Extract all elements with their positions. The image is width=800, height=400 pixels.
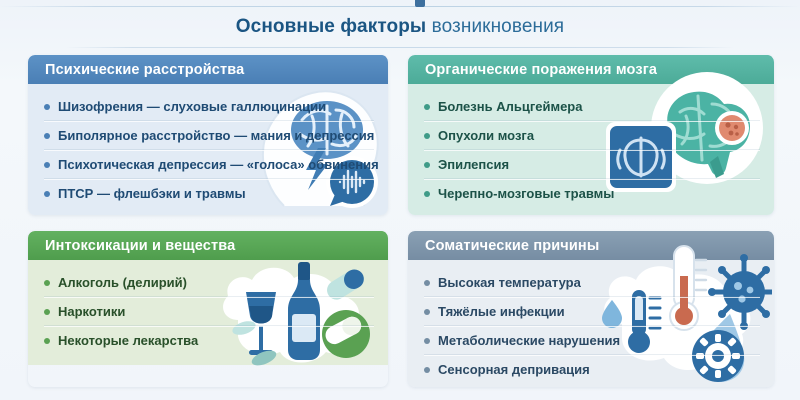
top-divider [0, 6, 800, 7]
list-item-label: Метаболические нарушения [438, 334, 620, 348]
page-title: Основные факторы возникновения [0, 16, 800, 38]
list-item-label: Шизофрения — слуховые галлюцинации [58, 100, 326, 114]
card-mental-disorders-title: Психические расстройства [45, 62, 244, 78]
card-intoxication-substances: Интоксикации и вещества [28, 231, 388, 387]
card-somatic-causes: Соматические причины [408, 231, 774, 387]
list-item: Тяжёлые инфекции [424, 297, 760, 326]
card-mental-disorders-body: Шизофрения — слуховые галлюцинации Бипол… [28, 84, 388, 215]
bullet-icon [424, 133, 430, 139]
title-underline [66, 47, 734, 48]
top-marker [415, 0, 425, 7]
bullet-icon [44, 191, 50, 197]
list-item: Эпилепсия [424, 150, 760, 179]
card-somatic-causes-title: Соматические причины [425, 238, 599, 254]
list-item-label: Алкоголь (делирий) [58, 276, 187, 290]
list-item: Опухоли мозга [424, 121, 760, 150]
list-item: Черепно-мозговые травмы [424, 179, 760, 208]
bullet-icon [44, 104, 50, 110]
card-intoxication-substances-list: Алкоголь (делирий) Наркотики Некоторые л… [44, 269, 374, 355]
list-item: Психотическая депрессия — «голоса» обвин… [44, 150, 374, 179]
card-somatic-causes-list: Высокая температура Тяжёлые инфекции Мет… [424, 269, 760, 384]
bullet-icon [424, 280, 430, 286]
bullet-icon [44, 133, 50, 139]
card-organic-brain-damage: Органические поражения мозга [408, 55, 774, 215]
list-item: Алкоголь (делирий) [44, 269, 374, 297]
card-intoxication-substances-title: Интоксикации и вещества [45, 238, 235, 254]
page-title-strong: Основные факторы [236, 16, 426, 37]
list-item-label: Высокая температура [438, 276, 581, 290]
list-item: ПТСР — флешбэки и травмы [44, 179, 374, 208]
bullet-icon [424, 309, 430, 315]
card-intoxication-substances-header: Интоксикации и вещества [28, 231, 388, 260]
list-item-label: Сенсорная депривация [438, 363, 590, 377]
list-item-label: Биполярное расстройство — мания и депрес… [58, 129, 374, 143]
list-item-label: Болезнь Альцгеймера [438, 100, 582, 114]
list-item-label: Наркотики [58, 305, 125, 319]
list-item: Биполярное расстройство — мания и депрес… [44, 121, 374, 150]
bullet-icon [44, 309, 50, 315]
list-item-label: Опухоли мозга [438, 129, 534, 143]
page-title-light: возникновения [432, 16, 565, 37]
list-item: Некоторые лекарства [44, 326, 374, 355]
list-item-label: Некоторые лекарства [58, 334, 198, 348]
list-item-label: Тяжёлые инфекции [438, 305, 565, 319]
list-item-label: ПТСР — флешбэки и травмы [58, 187, 246, 201]
list-item: Болезнь Альцгеймера [424, 93, 760, 121]
list-item: Высокая температура [424, 269, 760, 297]
list-item-label: Эпилепсия [438, 158, 509, 172]
bullet-icon [44, 338, 50, 344]
list-item: Метаболические нарушения [424, 326, 760, 355]
card-intoxication-substances-body: Алкоголь (делирий) Наркотики Некоторые л… [28, 260, 388, 365]
bullet-icon [424, 367, 430, 373]
list-item-label: Черепно-мозговые травмы [438, 187, 614, 201]
bullet-icon [424, 338, 430, 344]
card-organic-brain-damage-list: Болезнь Альцгеймера Опухоли мозга Эпилеп… [424, 93, 760, 208]
card-somatic-causes-header: Соматические причины [408, 231, 774, 260]
list-item-label: Психотическая депрессия — «голоса» обвин… [58, 158, 379, 172]
card-mental-disorders-header: Психические расстройства [28, 55, 388, 84]
card-organic-brain-damage-header: Органические поражения мозга [408, 55, 774, 84]
bullet-icon [44, 162, 50, 168]
list-item: Наркотики [44, 297, 374, 326]
list-item: Сенсорная депривация [424, 355, 760, 384]
card-mental-disorders-list: Шизофрения — слуховые галлюцинации Бипол… [44, 93, 374, 208]
bullet-icon [424, 104, 430, 110]
bullet-icon [44, 280, 50, 286]
bullet-icon [424, 191, 430, 197]
card-somatic-causes-body: Высокая температура Тяжёлые инфекции Мет… [408, 260, 774, 387]
card-organic-brain-damage-body: Болезнь Альцгеймера Опухоли мозга Эпилеп… [408, 84, 774, 215]
bullet-icon [424, 162, 430, 168]
card-mental-disorders: Психические расстройства [28, 55, 388, 215]
list-item: Шизофрения — слуховые галлюцинации [44, 93, 374, 121]
card-organic-brain-damage-title: Органические поражения мозга [425, 62, 657, 78]
